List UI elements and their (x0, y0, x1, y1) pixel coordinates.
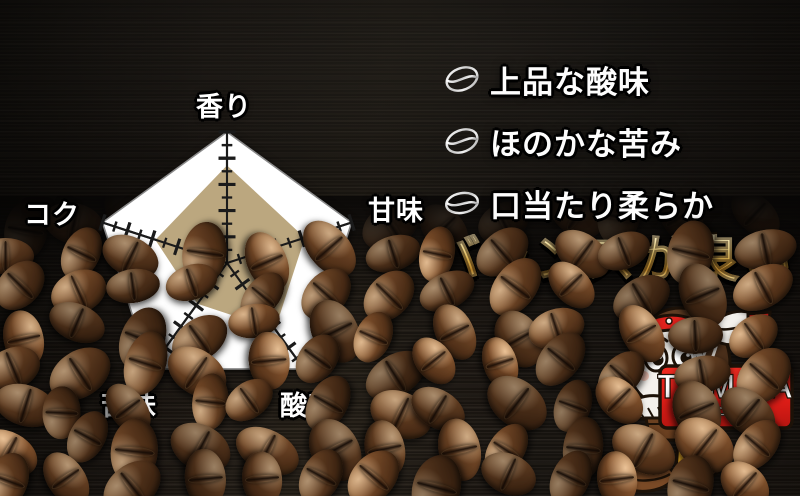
radar-axis-label-body: コク (24, 193, 80, 232)
feature-text: ほのかな苦み (490, 119, 682, 164)
feature-list: 上品な酸味 ほのかな苦み 口当たり柔らか (443, 48, 793, 234)
coffee-bean-icon (443, 126, 481, 156)
feature-item-bitterness: ほのかな苦み (443, 110, 793, 172)
feature-text: 口当たり柔らか (490, 181, 714, 226)
radar-axis-label-sweetness: 甘味 (368, 189, 424, 228)
feature-item-mouthfeel: 口当たり柔らか (443, 172, 793, 234)
coffee-bean-icon (443, 64, 481, 94)
feature-text: 上品な酸味 (490, 57, 650, 102)
promo-banner: 香り 甘味 酸味 苦味 コク 上品な酸味 (0, 0, 800, 496)
radar-axis-label-aroma: 香り (196, 85, 252, 124)
feature-item-acidity: 上品な酸味 (443, 48, 793, 110)
coffee-bean-icon (443, 188, 481, 218)
